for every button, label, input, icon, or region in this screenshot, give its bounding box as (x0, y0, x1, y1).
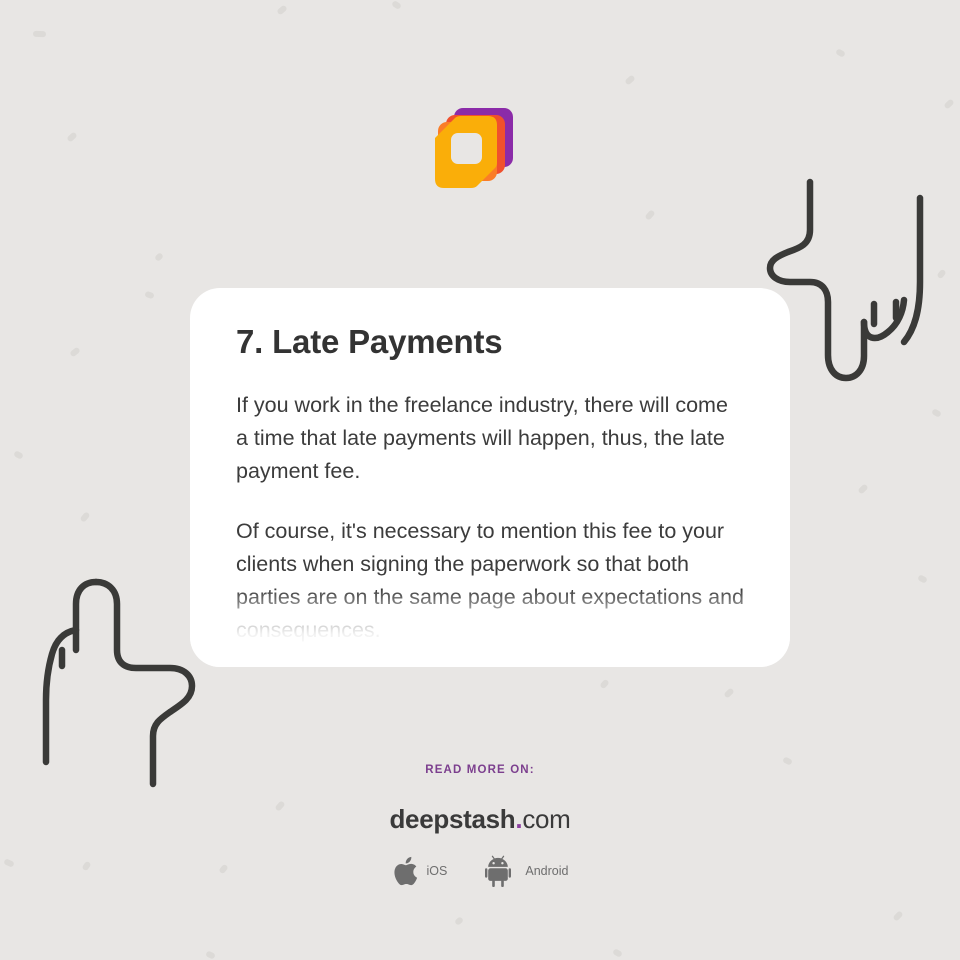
app-store-badges: iOS (0, 855, 960, 887)
confetti-dash (835, 48, 846, 58)
confetti-dash (13, 450, 24, 460)
confetti-dash (612, 948, 623, 958)
confetti-dash (723, 687, 734, 698)
confetti-dash (69, 347, 81, 358)
deepstash-logo[interactable] (425, 100, 521, 196)
android-label: Android (525, 864, 568, 878)
confetti-dash (33, 31, 46, 38)
confetti-dash (857, 483, 868, 494)
idea-paragraph-1: If you work in the freelance industry, t… (236, 389, 744, 488)
confetti-dash (205, 950, 216, 959)
confetti-dash (917, 574, 928, 584)
android-icon (485, 855, 517, 887)
confetti-dash (79, 511, 90, 523)
apple-icon (392, 855, 419, 887)
idea-title: 7. Late Payments (236, 322, 744, 362)
android-store-badge[interactable]: Android (485, 855, 568, 887)
logo-inner-cutout (451, 133, 482, 164)
confetti-dash (276, 4, 288, 15)
confetti-dash (66, 131, 77, 142)
confetti-dash (943, 98, 954, 109)
confetti-dash (644, 209, 655, 220)
confetti-dash (624, 74, 635, 85)
idea-card: 7. Late Payments If you work in the free… (190, 288, 790, 667)
footer: READ MORE ON: deepstash.com iOS (0, 764, 960, 887)
confetti-dash (154, 252, 164, 262)
read-more-label: READ MORE ON: (0, 764, 960, 776)
idea-card-content: 7. Late Payments If you work in the free… (190, 288, 790, 647)
confetti-dash (936, 269, 946, 280)
ios-label: iOS (427, 864, 448, 878)
confetti-dash (931, 408, 942, 418)
idea-paragraph-2: Of course, it's necessary to mention thi… (236, 515, 744, 647)
pointing-hand-left-illustration (18, 558, 218, 790)
confetti-dash (144, 291, 154, 299)
confetti-dash (391, 0, 402, 10)
brand-tld: com (522, 804, 570, 834)
brand-name: deepstash (389, 804, 515, 834)
confetti-dash (892, 910, 903, 921)
ios-store-badge[interactable]: iOS (392, 855, 448, 887)
deepstash-share-card: 7. Late Payments If you work in the free… (0, 0, 960, 960)
brand-wordmark[interactable]: deepstash.com (0, 804, 960, 835)
confetti-dash (454, 916, 464, 926)
confetti-dash (599, 679, 609, 690)
